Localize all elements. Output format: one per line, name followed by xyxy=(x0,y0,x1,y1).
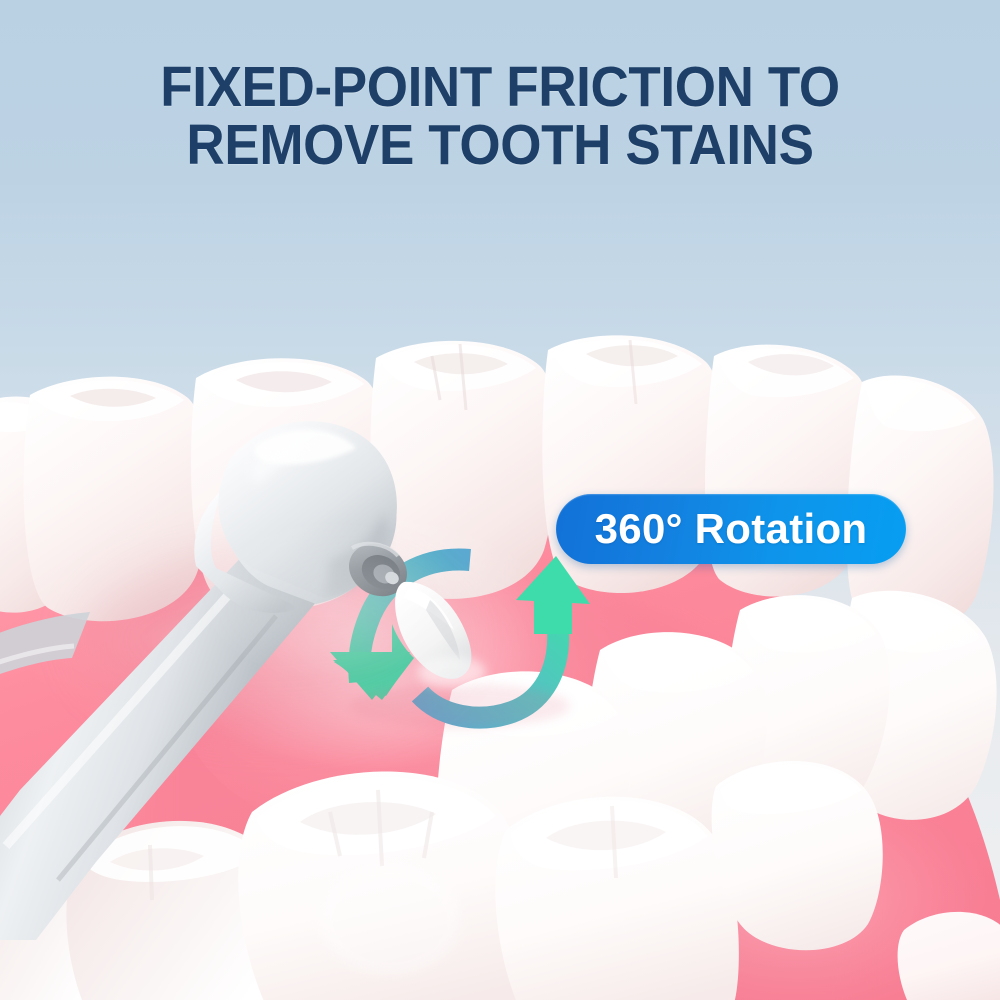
headline: FIXED-POINT FRICTION TO REMOVE TOOTH STA… xyxy=(35,58,965,174)
rotation-badge-label: 360° Rotation xyxy=(595,508,868,550)
headline-line-2: REMOVE TOOTH STAINS xyxy=(35,116,965,174)
rotation-badge: 360° Rotation xyxy=(556,494,906,564)
product-feature-image: FIXED-POINT FRICTION TO REMOVE TOOTH STA… xyxy=(0,0,1000,1000)
headline-line-1: FIXED-POINT FRICTION TO xyxy=(35,58,965,116)
